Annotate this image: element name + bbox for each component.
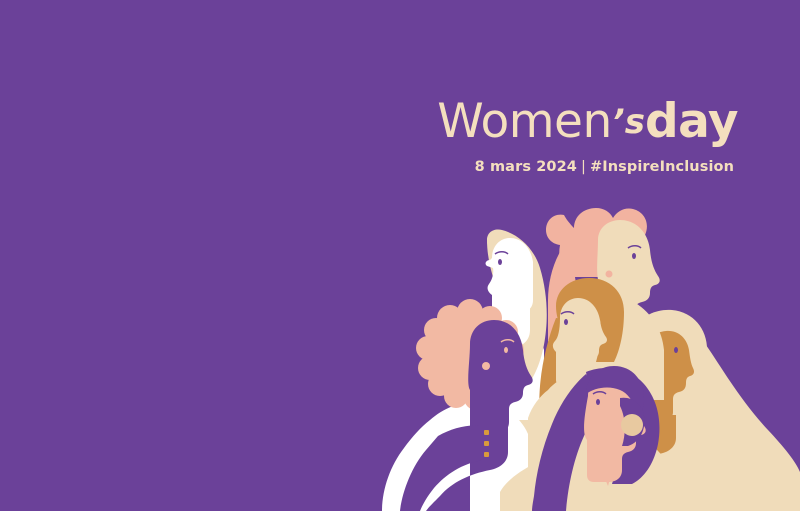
women-profiles-illustration bbox=[0, 0, 800, 511]
afro-figure-eye bbox=[504, 347, 508, 353]
afro-figure-buttons bbox=[484, 430, 489, 457]
title-word-day: day bbox=[645, 94, 738, 149]
purple-hair-figure-eye bbox=[596, 399, 600, 405]
gold-button-3 bbox=[484, 452, 489, 457]
subtitle-date: 8 mars 2024 bbox=[475, 159, 577, 175]
gold-button-1 bbox=[484, 430, 489, 435]
blonde-figure-eye bbox=[498, 259, 502, 265]
purple-hair-figure-earring bbox=[621, 414, 643, 436]
afro-figure-earring bbox=[482, 362, 490, 370]
brown-skin-figure-eye bbox=[674, 347, 678, 353]
gold-button-2 bbox=[484, 441, 489, 446]
subtitle-hashtag: #InspireInclusion bbox=[590, 159, 734, 175]
title-apostrophe: ’ bbox=[612, 102, 625, 142]
pink-updo-figure-eye bbox=[632, 253, 636, 259]
subtitle: 8 mars 2024|#InspireInclusion bbox=[437, 159, 734, 175]
page-title: Women’sday bbox=[437, 98, 738, 145]
headline-block: Women’sday 8 mars 2024|#InspireInclusion bbox=[437, 98, 738, 175]
title-letter-s: s bbox=[625, 102, 645, 142]
subtitle-separator: | bbox=[577, 159, 590, 175]
pink-updo-figure-earring bbox=[606, 271, 613, 278]
brown-bob-figure-eye bbox=[564, 319, 568, 325]
poster-canvas: Women’sday 8 mars 2024|#InspireInclusion bbox=[0, 0, 800, 511]
title-word-women: Women bbox=[437, 94, 611, 149]
